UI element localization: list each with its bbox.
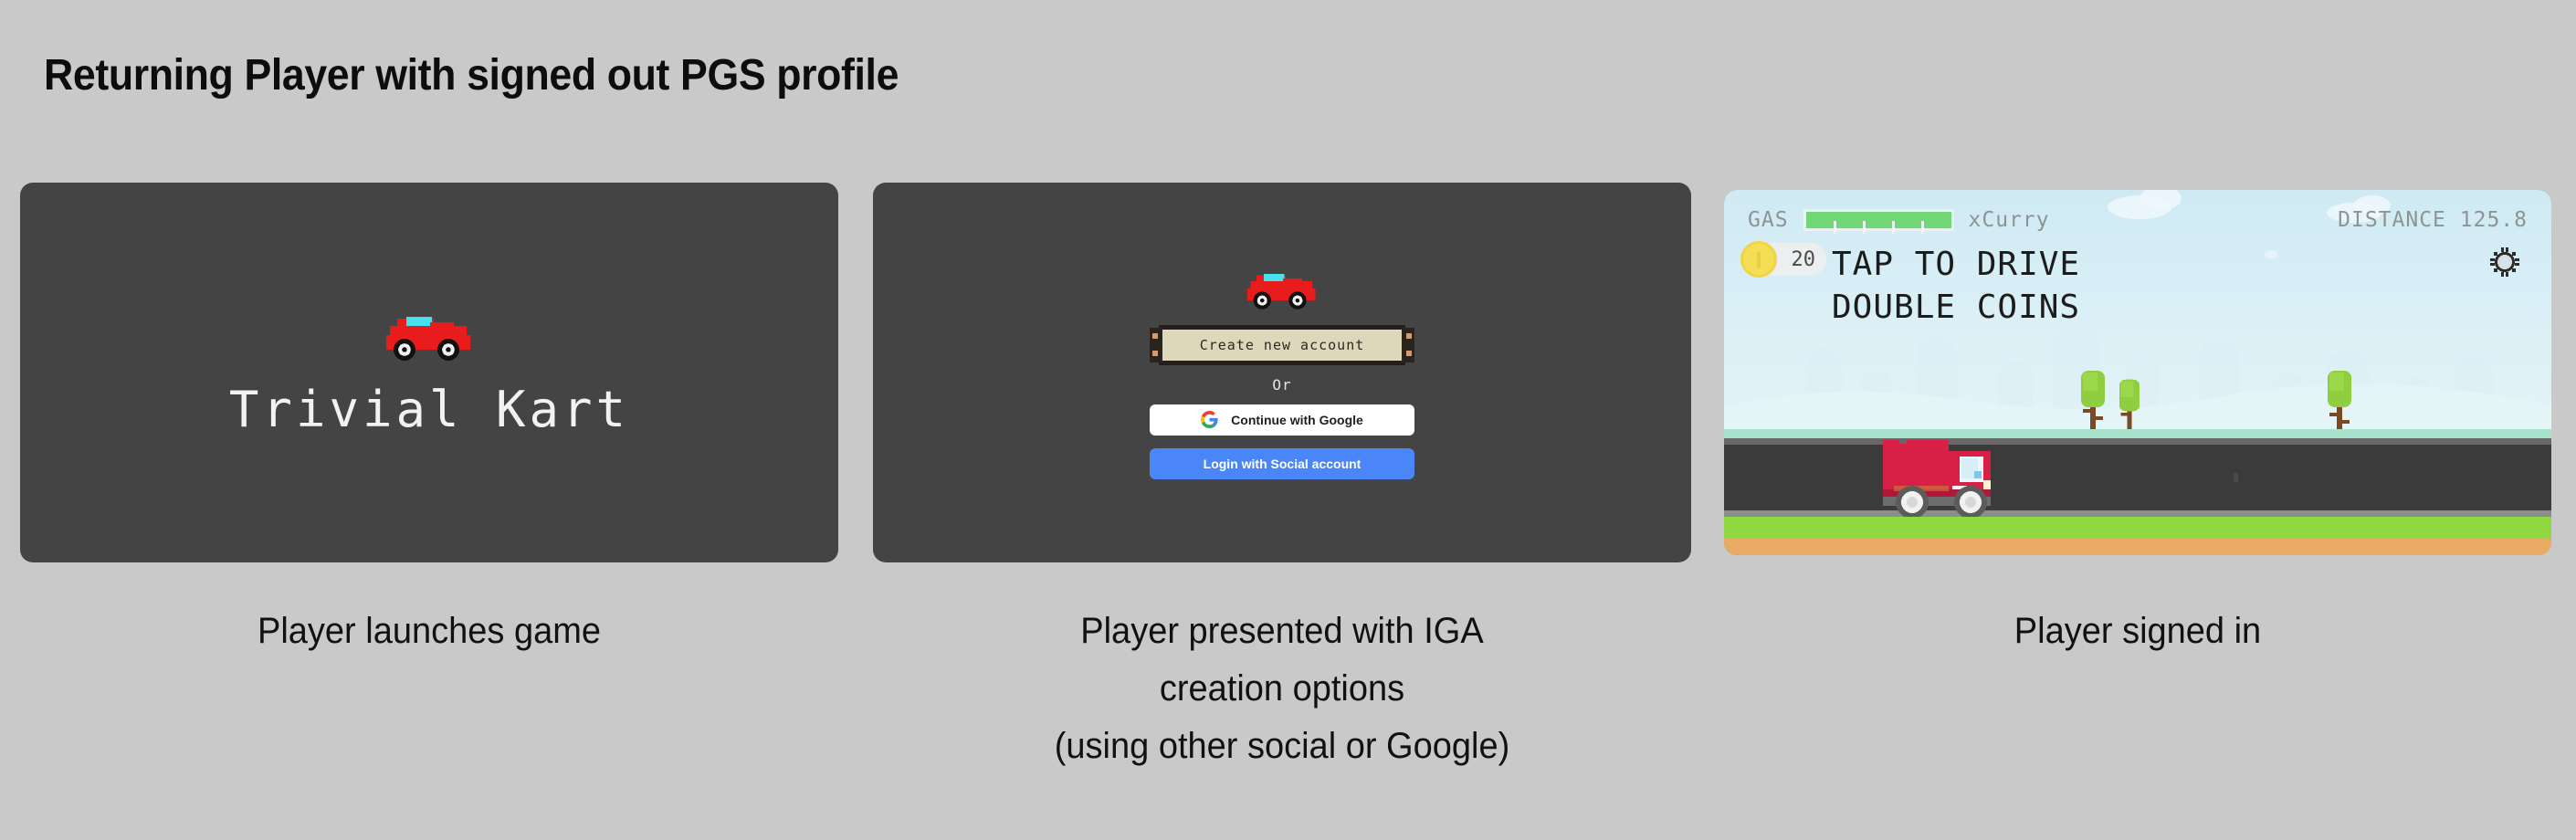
game-title: Trivial Kart bbox=[229, 381, 629, 438]
player-name-label: xCurry bbox=[1969, 208, 2050, 232]
pixel-car-icon bbox=[1236, 267, 1328, 312]
tagline-line-2: DOUBLE COINS bbox=[1832, 286, 2080, 329]
caption-player-launches-game: Player launches game bbox=[40, 603, 817, 660]
or-divider-label: Or bbox=[1272, 376, 1291, 394]
cloud-icon bbox=[2265, 250, 2277, 259]
tagline: TAP TO DRIVE DOUBLE COINS bbox=[1832, 243, 2080, 329]
login-with-social-label: Login with Social account bbox=[1204, 457, 1362, 471]
road-shoulder-top bbox=[1724, 438, 2551, 445]
create-new-account-label: Create new account bbox=[1200, 337, 1365, 353]
panel-splash-screen: Trivial Kart bbox=[20, 183, 838, 562]
iga-content: Create new account Or Continue with Goog… bbox=[873, 183, 1691, 562]
nav-item-store[interactable]: STORE bbox=[2423, 553, 2520, 555]
caption-iga-creation-options: Player presented with IGA creation optio… bbox=[893, 603, 1670, 775]
road bbox=[1724, 438, 2551, 517]
panel-gameplay: GAS xCurry DISTANCE 125.8 20 TAP TO DRIV… bbox=[1724, 190, 2551, 555]
continue-with-google-button[interactable]: Continue with Google bbox=[1150, 404, 1414, 436]
banner-cap-right bbox=[1402, 328, 1414, 362]
login-with-social-button[interactable]: Login with Social account bbox=[1150, 448, 1414, 479]
gas-label: GAS bbox=[1748, 208, 1789, 232]
page-title: Returning Player with signed out PGS pro… bbox=[44, 50, 899, 100]
pixel-car-icon bbox=[375, 308, 483, 364]
coin-count-label: 20 bbox=[1792, 248, 1816, 271]
nav-item-pgs[interactable]: PGS bbox=[2108, 553, 2167, 555]
create-new-account-button[interactable]: Create new account bbox=[1150, 325, 1414, 365]
cloud-icon bbox=[2140, 190, 2182, 210]
tagline-line-1: TAP TO DRIVE bbox=[1832, 243, 2080, 286]
road-dash bbox=[2234, 473, 2238, 482]
gas-meter bbox=[1803, 209, 1954, 231]
coin-icon bbox=[1740, 241, 1777, 278]
hud-top-row: GAS xCurry DISTANCE 125.8 bbox=[1748, 208, 2528, 232]
road-shoulder-bottom bbox=[1724, 510, 2551, 517]
distance-label: DISTANCE 125.8 bbox=[2338, 208, 2528, 232]
pixel-truck-icon bbox=[1877, 435, 2044, 523]
splash-content: Trivial Kart bbox=[20, 183, 838, 562]
horizon-strip bbox=[1724, 429, 2551, 438]
bottom-nav: GARAGE PGS STORE bbox=[1724, 544, 2551, 555]
caption-player-signed-in: Player signed in bbox=[1745, 603, 2531, 660]
gear-icon[interactable] bbox=[2489, 247, 2520, 278]
panel-iga-options: Create new account Or Continue with Goog… bbox=[873, 183, 1691, 562]
banner-rail-bottom bbox=[1159, 361, 1405, 365]
banner-rail-top bbox=[1159, 325, 1405, 330]
continue-with-google-label: Continue with Google bbox=[1231, 413, 1363, 427]
banner-cap-left bbox=[1150, 328, 1162, 362]
google-g-icon bbox=[1201, 411, 1218, 428]
nav-item-garage[interactable]: GARAGE bbox=[1748, 553, 1866, 555]
